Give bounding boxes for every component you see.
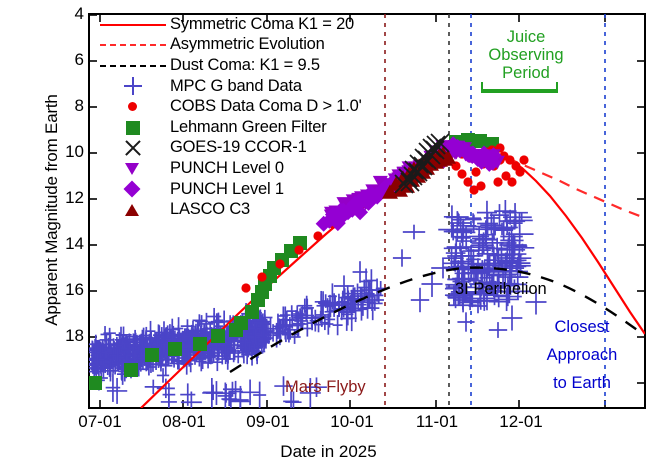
- data-point-mpc: [315, 291, 328, 313]
- x-marker-key: [96, 138, 170, 158]
- chart-legend: Symmetric Coma K1 = 20 Asymmetric Evolut…: [96, 14, 362, 220]
- legend-label: LASCO C3: [170, 200, 250, 219]
- chart-root: 4 6 8 10 12 14 16 18 07-01 08-01 09-01 1…: [0, 0, 657, 470]
- data-point-cobs: [519, 155, 528, 164]
- data-point-mpc: [489, 322, 507, 338]
- legend-item-goes-19-ccor-1: GOES-19 CCOR-1: [96, 138, 362, 159]
- legend-item-punch-level-1: PUNCH Level 1: [96, 179, 362, 200]
- x-tick-08-01: 08-01: [162, 412, 205, 432]
- data-point-mpc: [411, 288, 429, 312]
- square-marker-key: [96, 117, 170, 137]
- data-point-lehmann: [211, 329, 225, 343]
- data-point-cobs: [294, 245, 303, 254]
- data-point-mpc: [457, 312, 474, 331]
- y-axis-label: Apparent Magnitude from Earth: [42, 70, 62, 350]
- solid-red-line-key: [96, 14, 170, 34]
- data-point-lehmann: [124, 363, 138, 377]
- data-point-cobs: [476, 181, 485, 190]
- legend-label: Lehmann Green Filter: [170, 118, 327, 137]
- data-point-mpc: [157, 368, 169, 383]
- legend-item-asymmetric-evolution: Asymmetric Evolution: [96, 35, 362, 56]
- annotation-perihelion: 3I Perihelion: [455, 280, 547, 298]
- data-point-lehmann: [88, 376, 102, 390]
- data-point-cobs: [275, 259, 284, 268]
- data-point-mpc: [353, 261, 368, 283]
- annotation-juice-line2: Observing: [476, 46, 576, 64]
- legend-item-symmetric-coma: Symmetric Coma K1 = 20: [96, 14, 362, 35]
- data-point-cobs: [493, 177, 502, 186]
- data-point-lehmann: [145, 348, 159, 362]
- data-point-cobs: [471, 167, 480, 176]
- legend-label: Dust Coma: K1 = 9.5: [170, 56, 320, 75]
- x-tick-12-01: 12-01: [499, 412, 542, 432]
- data-point-cobs: [515, 167, 524, 176]
- legend-item-mpc-g-band: MPC G band Data: [96, 76, 362, 97]
- data-point-lehmann: [473, 134, 487, 148]
- legend-label: MPC G band Data: [170, 77, 302, 96]
- annotation-mars-flyby: Mars Flyby: [285, 378, 366, 396]
- triangle-up-marker-key: [96, 200, 170, 220]
- annotation-juice-line1: Juice: [476, 28, 576, 46]
- data-point-lehmann: [245, 305, 259, 319]
- y-tick-6: 6: [44, 51, 84, 68]
- x-tick-07-01: 07-01: [78, 412, 121, 432]
- x-tick-11-01: 11-01: [416, 412, 458, 432]
- legend-item-cobs-data: COBS Data Coma D > 1.0': [96, 96, 362, 117]
- annotation-closest-line2: Approach: [530, 346, 634, 364]
- legend-item-lasco-c3: LASCO C3: [96, 199, 362, 220]
- data-point-cobs: [257, 272, 266, 281]
- data-point-mpc: [253, 382, 266, 409]
- data-point-cobs: [241, 283, 250, 292]
- legend-label: COBS Data Coma D > 1.0': [170, 97, 362, 116]
- triangle-down-marker-key: [96, 158, 170, 178]
- legend-label: Symmetric Coma K1 = 20: [170, 15, 354, 34]
- data-point-mpc: [280, 306, 291, 323]
- x-axis-label: Date in 2025: [0, 442, 657, 462]
- circle-marker-key: [96, 97, 170, 117]
- y-tick-4: 4: [44, 5, 84, 22]
- data-point-mpc: [494, 200, 516, 222]
- data-point-lehmann: [168, 342, 182, 356]
- data-point-cobs: [507, 177, 516, 186]
- legend-label: GOES-19 CCOR-1: [170, 138, 307, 157]
- annotation-closest-line3: to Earth: [530, 374, 634, 392]
- juice-period-bar: [481, 89, 556, 91]
- legend-item-lehmann-green-filter: Lehmann Green Filter: [96, 117, 362, 138]
- annotation-juice-line3: Period: [476, 64, 576, 82]
- dashed-red-line-key: [96, 35, 170, 55]
- data-point-mpc: [403, 225, 425, 240]
- data-point-mpc: [502, 305, 523, 330]
- data-point-mpc: [444, 239, 469, 257]
- data-point-lehmann: [193, 337, 207, 351]
- dashed-black-line-key: [96, 55, 170, 75]
- data-point-cobs: [313, 231, 322, 240]
- legend-label: PUNCH Level 0: [170, 159, 284, 178]
- juice-period-bracket: [481, 82, 558, 93]
- x-tick-09-01: 09-01: [246, 412, 289, 432]
- plus-marker-key: [96, 76, 170, 96]
- legend-item-punch-level-0: PUNCH Level 0: [96, 158, 362, 179]
- annotation-closest-line1: Closest: [530, 318, 634, 336]
- data-point-mpc: [393, 249, 411, 266]
- x-tick-10-01: 10-01: [330, 412, 373, 432]
- legend-label: Asymmetric Evolution: [170, 35, 325, 54]
- data-point-mpc: [145, 380, 162, 394]
- data-point-cobs: [457, 169, 466, 178]
- data-point-mpc: [206, 381, 227, 405]
- diamond-marker-key: [96, 179, 170, 199]
- legend-item-dust-coma: Dust Coma: K1 = 9.5: [96, 55, 362, 76]
- data-point-cobs: [463, 177, 472, 186]
- data-point-mpc: [107, 378, 127, 404]
- legend-label: PUNCH Level 1: [170, 180, 284, 199]
